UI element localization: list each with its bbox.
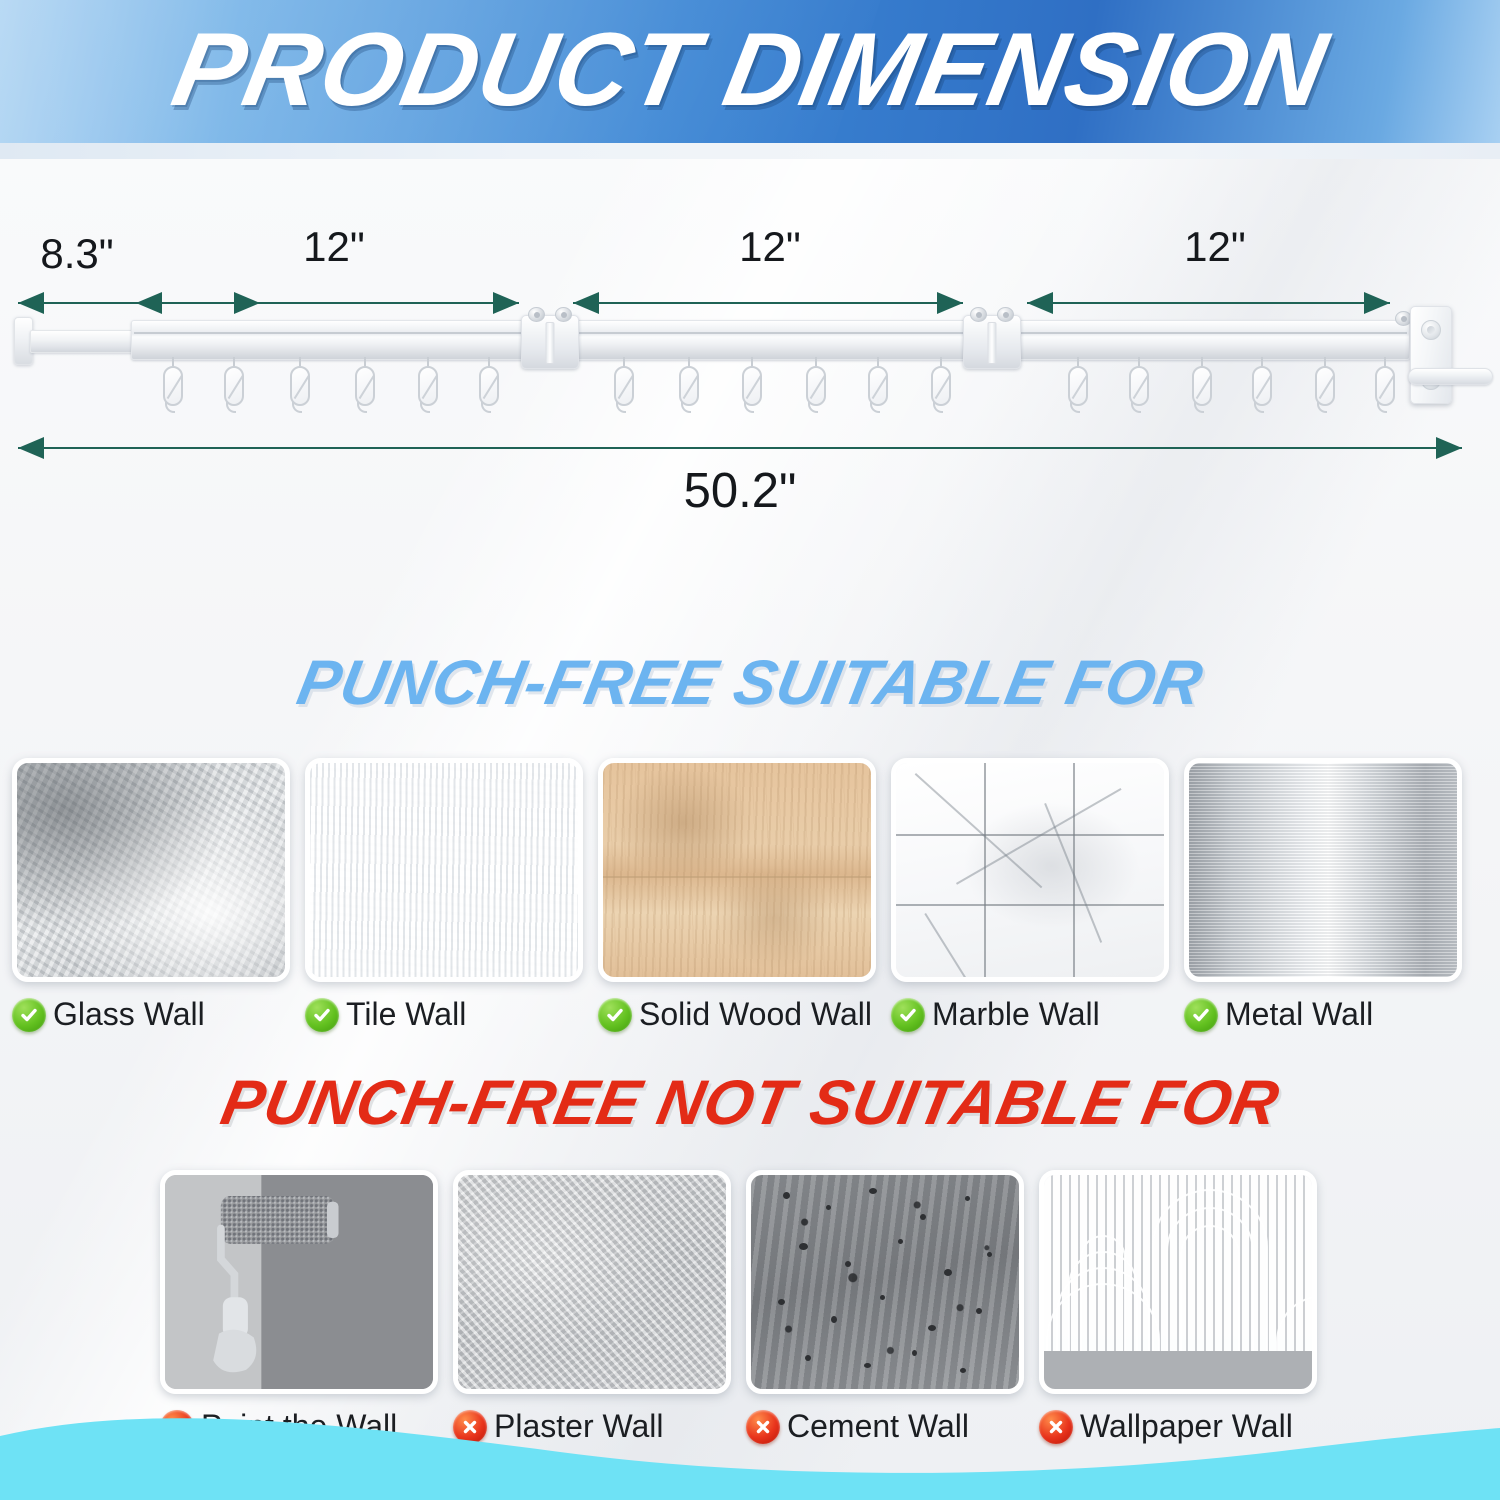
wood-texture (603, 763, 871, 977)
connector-screw-knob-icon (528, 307, 545, 322)
curtain-hook (224, 357, 244, 413)
wallpaper-texture (1044, 1175, 1312, 1389)
bracket-screw-icon (1421, 320, 1441, 340)
product-dimension-diagram: 8.3" 12" 12" 12" (0, 165, 1500, 565)
connector-screw-knob-icon (555, 307, 572, 322)
material-caption: Metal Wall (1184, 996, 1462, 1033)
check-icon (1184, 998, 1218, 1032)
curtain-hook (1129, 357, 1149, 413)
curtain-track-illustration (0, 165, 1500, 565)
infographic-page: PRODUCT DIMENSION 8.3" 12" 12" 12" (0, 0, 1500, 1500)
not-suitable-section-title: PUNCH-FREE NOT SUITABLE FOR (216, 1072, 1284, 1135)
curtain-hook (742, 357, 762, 413)
material-swatch (891, 758, 1169, 982)
wallpaper-arch (1180, 1225, 1240, 1363)
material-label: Tile Wall (346, 996, 466, 1033)
track-segment-3 (1018, 320, 1410, 360)
glass-texture (17, 763, 285, 977)
material-label: Solid Wood Wall (639, 996, 872, 1033)
header-banner: PRODUCT DIMENSION (0, 0, 1500, 143)
track-connector-1 (521, 315, 579, 369)
curtain-hook (868, 357, 888, 413)
cement-texture (751, 1175, 1019, 1389)
tile-texture (310, 763, 578, 977)
material-swatch (1039, 1170, 1317, 1394)
suitable-section-title: PUNCH-FREE SUITABLE FOR (292, 652, 1207, 715)
wallpaper-arch (1080, 1235, 1126, 1363)
curtain-hook (290, 357, 310, 413)
material-swatch (12, 758, 290, 982)
track-segment-2 (568, 320, 973, 360)
header-underline (0, 143, 1500, 159)
right-mounting-bracket (1410, 306, 1452, 404)
material-tile-metal-wall[interactable]: Metal Wall (1184, 758, 1462, 1033)
curtain-hook (1375, 357, 1395, 413)
curtain-hook (1192, 357, 1212, 413)
material-swatch (1184, 758, 1462, 982)
material-caption: Glass Wall (12, 996, 290, 1033)
marble-texture (896, 763, 1164, 977)
curtain-hook (806, 357, 826, 413)
tension-rod (1408, 368, 1493, 385)
material-swatch (160, 1170, 438, 1394)
cement-pits (751, 1175, 1019, 1389)
curtain-hook (614, 357, 634, 413)
curtain-hook (479, 357, 499, 413)
material-tile-marble-wall[interactable]: Marble Wall (891, 758, 1169, 1033)
material-swatch (305, 758, 583, 982)
curtain-hook (1315, 357, 1335, 413)
left-extension-rod (30, 330, 135, 353)
connector-screw-knob-icon (997, 307, 1014, 322)
paint-texture (165, 1175, 433, 1389)
page-title: PRODUCT DIMENSION (165, 17, 1335, 121)
material-label: Metal Wall (1225, 996, 1373, 1033)
curtain-hook (163, 357, 183, 413)
curtain-hook (1068, 357, 1088, 413)
material-swatch (453, 1170, 731, 1394)
track-connector-2 (963, 315, 1021, 369)
material-caption: Marble Wall (891, 996, 1169, 1033)
connector-bar (988, 322, 997, 364)
check-icon (891, 998, 925, 1032)
check-icon (598, 998, 632, 1032)
material-caption: Solid Wood Wall (598, 996, 876, 1033)
material-swatch (746, 1170, 1024, 1394)
paint-roller-icon (165, 1175, 433, 1389)
connector-bar (546, 322, 555, 364)
curtain-hook (931, 357, 951, 413)
suitable-materials-row: Glass Wall Tile Wall Solid Woo (12, 758, 1462, 1033)
connector-screw-knob-icon (970, 307, 987, 322)
plaster-texture (458, 1175, 726, 1389)
footer-wave (0, 1380, 1500, 1500)
material-tile-solid-wood-wall[interactable]: Solid Wood Wall (598, 758, 876, 1033)
check-icon (12, 998, 46, 1032)
material-label: Glass Wall (53, 996, 205, 1033)
metal-texture (1189, 763, 1457, 977)
material-caption: Tile Wall (305, 996, 583, 1033)
curtain-hook (355, 357, 375, 413)
material-tile-tile-wall[interactable]: Tile Wall (305, 758, 583, 1033)
material-swatch (598, 758, 876, 982)
material-tile-glass-wall[interactable]: Glass Wall (12, 758, 290, 1033)
curtain-hook (418, 357, 438, 413)
track-segment-1 (131, 320, 531, 360)
curtain-hook (1252, 357, 1272, 413)
curtain-hook (679, 357, 699, 413)
marble-grout-lines (896, 763, 1164, 977)
material-label: Marble Wall (932, 996, 1100, 1033)
check-icon (305, 998, 339, 1032)
